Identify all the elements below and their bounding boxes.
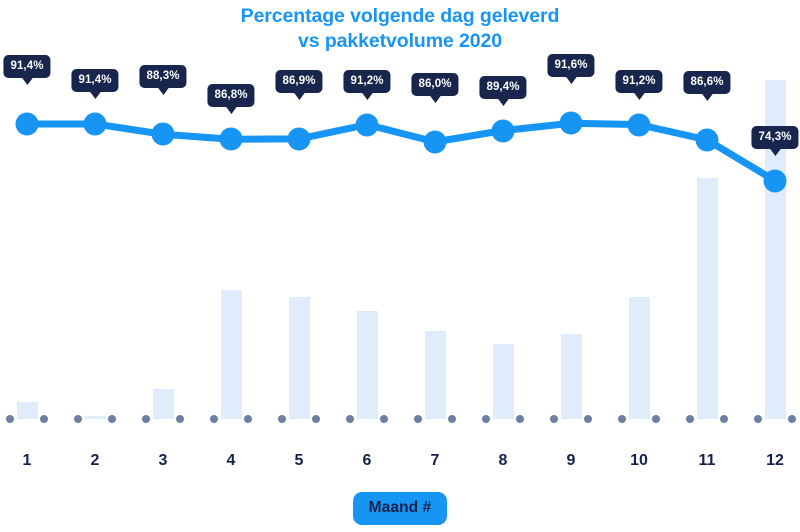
data-label-month-4: 86,8% — [207, 84, 254, 107]
x-tick-7: 7 — [431, 452, 440, 470]
x-axis-tick-labels: 123456789101112 — [0, 452, 800, 480]
x-tick-9: 9 — [567, 452, 576, 470]
data-label-month-8: 89,4% — [479, 76, 526, 99]
data-label-tooltips: 91,4%91,4%88,3%86,8%86,9%91,2%86,0%89,4%… — [0, 0, 800, 450]
data-label-month-1: 91,4% — [3, 55, 50, 78]
data-label-month-11: 86,6% — [683, 71, 730, 94]
data-label-month-6: 91,2% — [343, 70, 390, 93]
x-tick-11: 11 — [699, 452, 716, 470]
x-tick-6: 6 — [363, 452, 372, 470]
x-axis-title-wrap: Maand # — [0, 492, 800, 525]
data-label-month-5: 86,9% — [275, 70, 322, 93]
x-tick-1: 1 — [23, 452, 32, 470]
x-tick-3: 3 — [159, 452, 168, 470]
data-label-month-12: 74,3% — [751, 126, 798, 149]
data-label-month-10: 91,2% — [615, 70, 662, 93]
data-label-month-2: 91,4% — [71, 69, 118, 92]
x-axis-title-pill: Maand # — [353, 492, 448, 525]
data-label-month-7: 86,0% — [411, 73, 458, 96]
plot-area: 91,4%91,4%88,3%86,8%86,9%91,2%86,0%89,4%… — [0, 0, 800, 450]
x-tick-8: 8 — [499, 452, 508, 470]
chart-container: Percentage volgende dag geleverd vs pakk… — [0, 0, 800, 532]
data-label-month-3: 88,3% — [139, 65, 186, 88]
x-tick-4: 4 — [227, 452, 236, 470]
x-tick-12: 12 — [766, 452, 784, 470]
x-tick-10: 10 — [630, 452, 648, 470]
x-tick-2: 2 — [91, 452, 100, 470]
x-tick-5: 5 — [295, 452, 304, 470]
data-label-month-9: 91,6% — [547, 54, 594, 77]
